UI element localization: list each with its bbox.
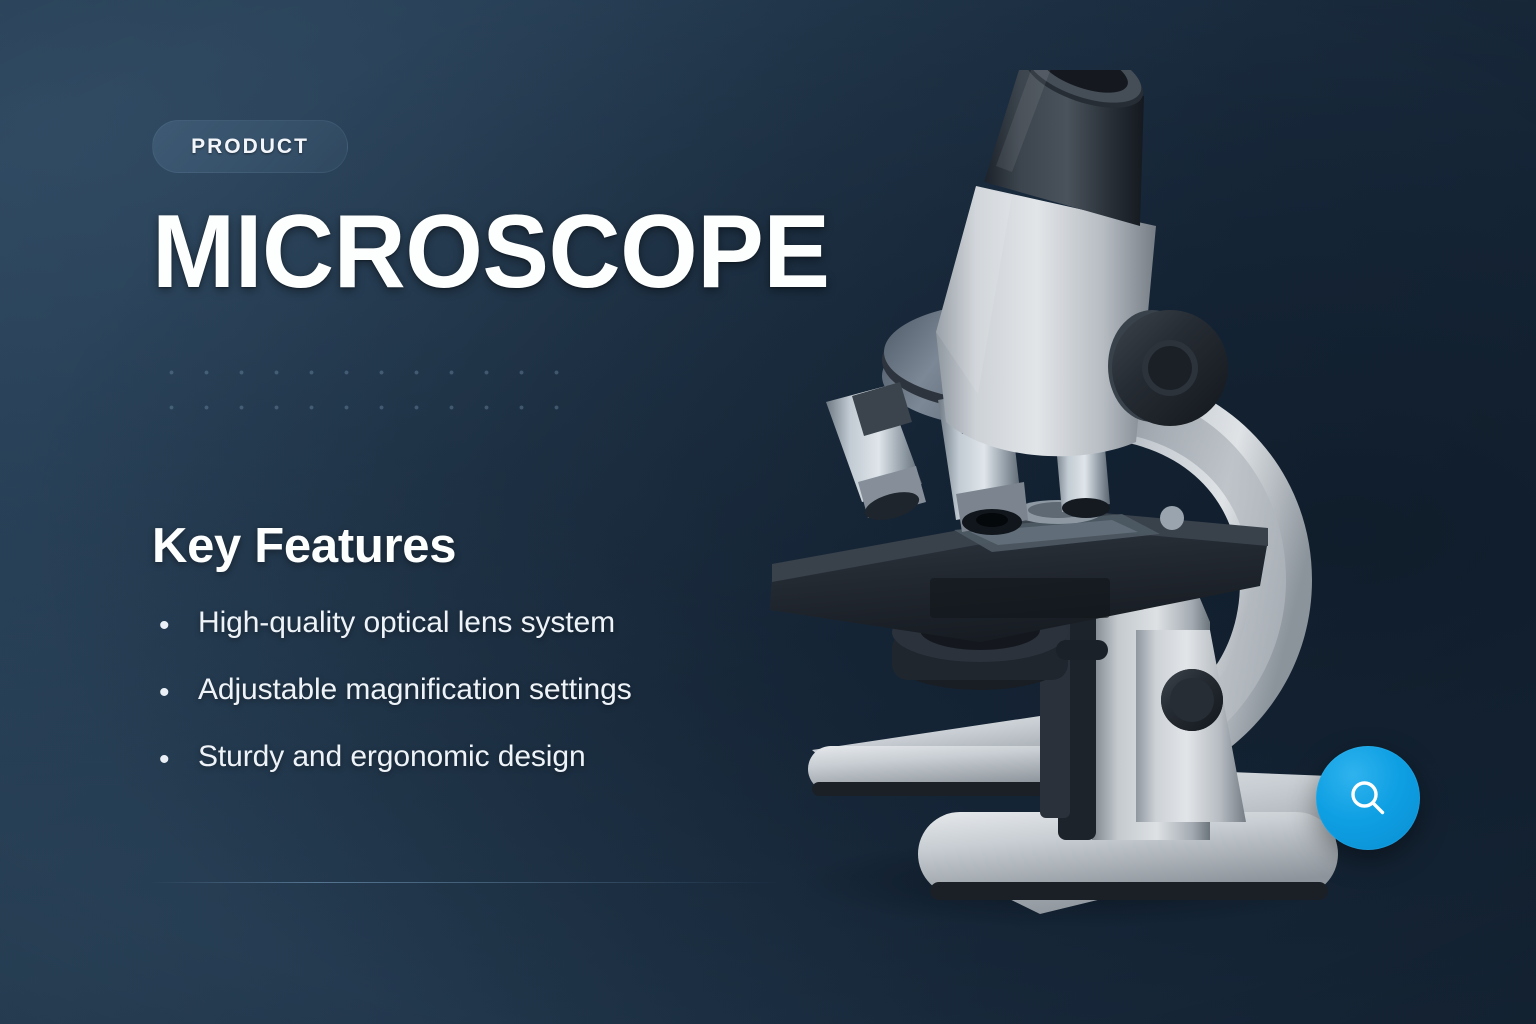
search-button[interactable] — [1316, 746, 1420, 850]
search-icon — [1345, 775, 1391, 821]
feature-list: • High-quality optical lens system • Adj… — [154, 606, 794, 807]
product-badge-label: PRODUCT — [191, 135, 309, 159]
list-item: • Sturdy and ergonomic design — [154, 740, 794, 807]
bullet-icon: • — [154, 673, 198, 710]
dot-grid-decoration — [154, 355, 574, 417]
microscope-illustration — [740, 70, 1420, 950]
content-column: PRODUCT MICROSCOPE Key Features • High-q… — [152, 0, 832, 1024]
list-item: • Adjustable magnification settings — [154, 673, 794, 740]
slide-clip — [1160, 506, 1184, 530]
divider — [152, 882, 782, 883]
fine-focus-knob — [1161, 669, 1223, 731]
product-card-canvas: PRODUCT MICROSCOPE Key Features • High-q… — [0, 0, 1536, 1024]
bullet-icon: • — [154, 740, 198, 777]
key-features-heading: Key Features — [152, 518, 456, 574]
bullet-icon: • — [154, 606, 198, 643]
coarse-focus-knob — [1108, 310, 1228, 426]
monocular-head — [936, 186, 1156, 456]
feature-label: High-quality optical lens system — [198, 606, 615, 640]
list-item: • High-quality optical lens system — [154, 606, 794, 673]
feature-label: Adjustable magnification settings — [198, 673, 632, 707]
base-foot-left — [808, 716, 1070, 796]
product-badge: PRODUCT — [152, 120, 348, 173]
feature-label: Sturdy and ergonomic design — [198, 740, 586, 774]
